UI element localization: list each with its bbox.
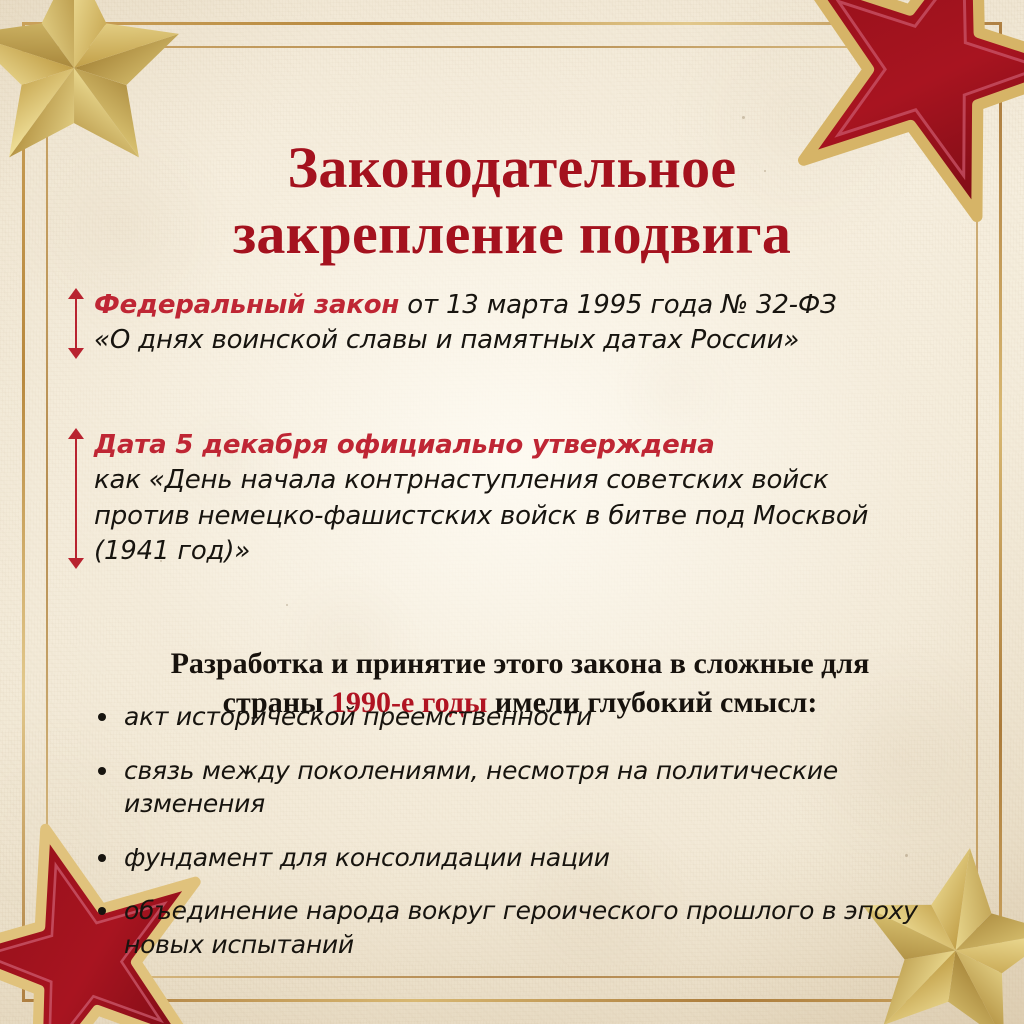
accent-block-text: Федеральный закон от 13 марта 1995 года … (94, 288, 964, 359)
slide-root: Законодательное закрепление подвига Феде… (0, 0, 1024, 1024)
arrow-cap-bottom-icon (68, 558, 84, 569)
accent-block-text: Дата 5 декабря официально утверждена как… (94, 428, 964, 569)
accent-highlight: Федеральный закон (94, 290, 399, 320)
paper-speck (286, 604, 288, 606)
list-item: связь между поколениями, несмотря на пол… (92, 754, 928, 821)
accent-line-4: (1941 год)» (94, 536, 250, 566)
accent-line-2: «О днях воинской славы и памятных датах … (94, 325, 799, 355)
list-item: объединение народа вокруг героического п… (92, 894, 928, 961)
list-item-label: акт исторической преемственности (124, 702, 592, 731)
accent-highlight: Дата 5 декабря официально утверждена (94, 430, 715, 460)
accent-rest: от 13 марта 1995 года № 32-ФЗ (399, 290, 836, 320)
accent-block-federal-law: Федеральный закон от 13 марта 1995 года … (66, 288, 964, 359)
page-title: Законодательное закрепление подвига (0, 135, 1024, 267)
arrow-cap-bottom-icon (68, 348, 84, 359)
accent-line-2: как «День начала контрнаступления советс… (94, 465, 829, 495)
list-item-label: объединение народа вокруг героического п… (124, 896, 918, 959)
page-title-line-2: закрепление подвига (110, 201, 914, 267)
list-item-label: связь между поколениями, несмотря на пол… (124, 756, 838, 819)
list-item: акт исторической преемственности (92, 700, 928, 734)
accent-bar-line (75, 435, 77, 562)
accent-line-3: против немецко-фашистских войск в битве … (94, 501, 868, 531)
list-item-label: фундамент для консолидации нации (124, 843, 610, 872)
accent-bar-line (75, 295, 77, 352)
accent-block-date-approved: Дата 5 декабря официально утверждена как… (66, 428, 964, 569)
red-accent-bar (66, 288, 86, 359)
list-item: фундамент для консолидации нации (92, 841, 928, 875)
paper-speck (742, 116, 745, 119)
red-accent-bar (66, 428, 86, 569)
benefits-list: акт исторической преемственности связь м… (92, 700, 928, 981)
page-title-line-1: Законодательное (288, 135, 737, 200)
